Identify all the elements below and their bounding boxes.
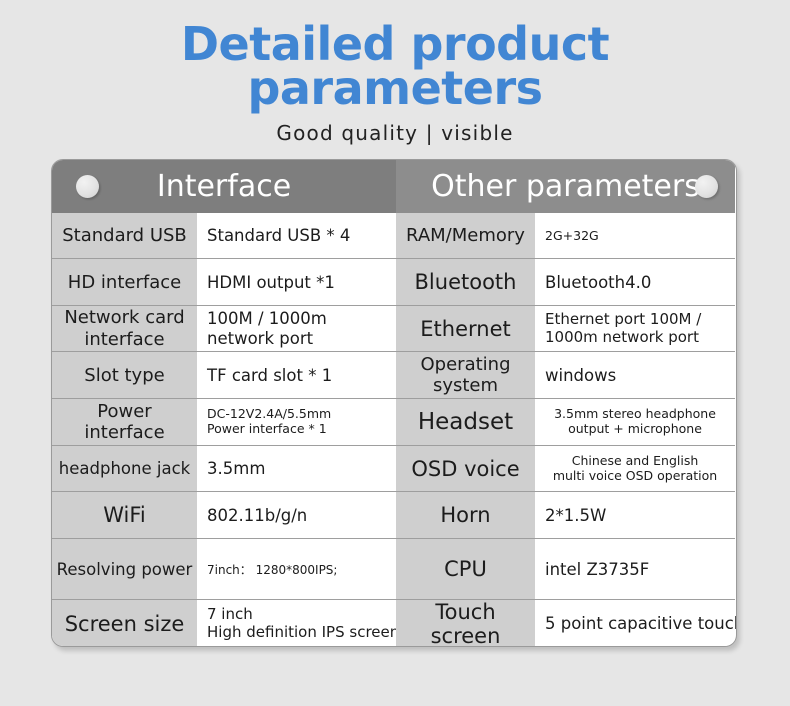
page-title-block: Detailed product parameters Good quality… (0, 22, 790, 145)
column-header-other-parameters-label: Other parameters (431, 169, 700, 204)
table-row: headphone jack 3.5mm (52, 446, 396, 492)
row-label: Ethernet (396, 306, 535, 351)
row-value: 7inch： 1280*800IPS; (197, 539, 396, 599)
row-label: Headset (396, 399, 535, 445)
row-value: 3.5mm (197, 446, 396, 491)
row-value: 5 point capacitive touch (535, 600, 735, 647)
row-label: WiFi (52, 492, 197, 538)
table-row: CPU intel Z3735F (396, 539, 735, 600)
table-row: RAM/Memory 2G+32G (396, 213, 735, 259)
table-row: Horn 2*1.5W (396, 492, 735, 539)
table-row: Slot type TF card slot * 1 (52, 352, 396, 399)
table-row: OSD voice Chinese and English multi voic… (396, 446, 735, 492)
table-row: Screen size 7 inch High definition IPS s… (52, 600, 396, 647)
row-label: Bluetooth (396, 259, 535, 305)
table-row: WiFi 802.11b/g/n (52, 492, 396, 539)
row-value-line-1: 7 inch (207, 605, 253, 623)
row-value-line-1: 3.5mm stereo headphone (554, 406, 716, 421)
table-row: Ethernet Ethernet port 100M / 1000m netw… (396, 306, 735, 352)
table-row: Network card interface 100M / 1000m netw… (52, 306, 396, 352)
table-row: HD interface HDMI output *1 (52, 259, 396, 306)
row-label: Standard USB (52, 213, 197, 258)
screw-dot-icon (76, 175, 99, 198)
spec-table-body: Standard USB Standard USB * 4 HD interfa… (52, 213, 736, 647)
spec-table-header: Interface Other parameters (52, 160, 736, 213)
row-value-line-2: output + microphone (568, 421, 702, 436)
table-row: Touch screen 5 point capacitive touch (396, 600, 735, 647)
row-label-line-1: Operating (421, 354, 511, 375)
row-value-line-2: High definition IPS screen (207, 623, 399, 641)
spec-column-other-parameters: RAM/Memory 2G+32G Bluetooth Bluetooth4.0… (396, 213, 735, 647)
table-row: Bluetooth Bluetooth4.0 (396, 259, 735, 306)
row-label: Screen size (52, 600, 197, 647)
row-value: 3.5mm stereo headphone output + micropho… (535, 399, 735, 445)
page-title-line-2: parameters (0, 66, 790, 110)
row-label-line-2: interface (84, 329, 164, 350)
table-row: Resolving power 7inch： 1280*800IPS; (52, 539, 396, 600)
row-label: Slot type (52, 352, 197, 398)
row-value-line-2: 1000m network port (545, 328, 699, 346)
page-title-line-1: Detailed product (0, 22, 790, 66)
row-value: 2G+32G (535, 213, 735, 258)
column-header-interface-label: Interface (157, 169, 291, 204)
row-label: Power interface (52, 399, 197, 445)
row-value-line-1: DC-12V2.4A/5.5mm (207, 406, 331, 421)
row-value-line-1: Chinese and English (572, 453, 699, 468)
row-label-line-2: system (433, 375, 498, 396)
row-value: 7 inch High definition IPS screen (197, 600, 396, 647)
row-value: Chinese and English multi voice OSD oper… (535, 446, 735, 491)
row-value: Standard USB * 4 (197, 213, 396, 258)
column-header-other-parameters: Other parameters (396, 160, 735, 213)
row-label: RAM/Memory (396, 213, 535, 258)
row-value: 100M / 1000m network port (197, 306, 396, 351)
table-row: Power interface DC-12V2.4A/5.5mm Power i… (52, 399, 396, 446)
row-value-line-2: multi voice OSD operation (553, 468, 717, 483)
product-parameters-page: Detailed product parameters Good quality… (0, 0, 790, 706)
row-label: Operating system (396, 352, 535, 398)
screw-dot-icon (695, 175, 718, 198)
row-value-line-1: 100M / 1000m (207, 309, 327, 328)
table-row: Headset 3.5mm stereo headphone output + … (396, 399, 735, 446)
row-value-line-1: Ethernet port 100M / (545, 310, 701, 328)
row-label: Resolving power (52, 539, 197, 599)
row-value: TF card slot * 1 (197, 352, 396, 398)
row-label: Touch screen (396, 600, 535, 647)
row-value: Bluetooth4.0 (535, 259, 735, 305)
row-label: Horn (396, 492, 535, 538)
table-row: Standard USB Standard USB * 4 (52, 213, 396, 259)
row-label-line-1: Network card (64, 307, 184, 328)
row-value-line-2: Power interface * 1 (207, 421, 327, 436)
column-header-interface: Interface (52, 160, 396, 213)
row-value-line-2: network port (207, 329, 313, 348)
row-label: headphone jack (52, 446, 197, 491)
table-row: Operating system windows (396, 352, 735, 399)
row-value: HDMI output *1 (197, 259, 396, 305)
row-value: DC-12V2.4A/5.5mm Power interface * 1 (197, 399, 396, 445)
row-value: 2*1.5W (535, 492, 735, 538)
row-label: OSD voice (396, 446, 535, 491)
spec-table: Interface Other parameters Standard USB … (51, 159, 737, 647)
row-value: 802.11b/g/n (197, 492, 396, 538)
row-value: Ethernet port 100M / 1000m network port (535, 306, 735, 351)
row-label: HD interface (52, 259, 197, 305)
row-value: intel Z3735F (535, 539, 735, 599)
row-label: CPU (396, 539, 535, 599)
row-value: windows (535, 352, 735, 398)
page-subtitle: Good quality | visible (0, 121, 790, 145)
row-label: Network card interface (52, 306, 197, 351)
spec-column-interface: Standard USB Standard USB * 4 HD interfa… (52, 213, 396, 647)
